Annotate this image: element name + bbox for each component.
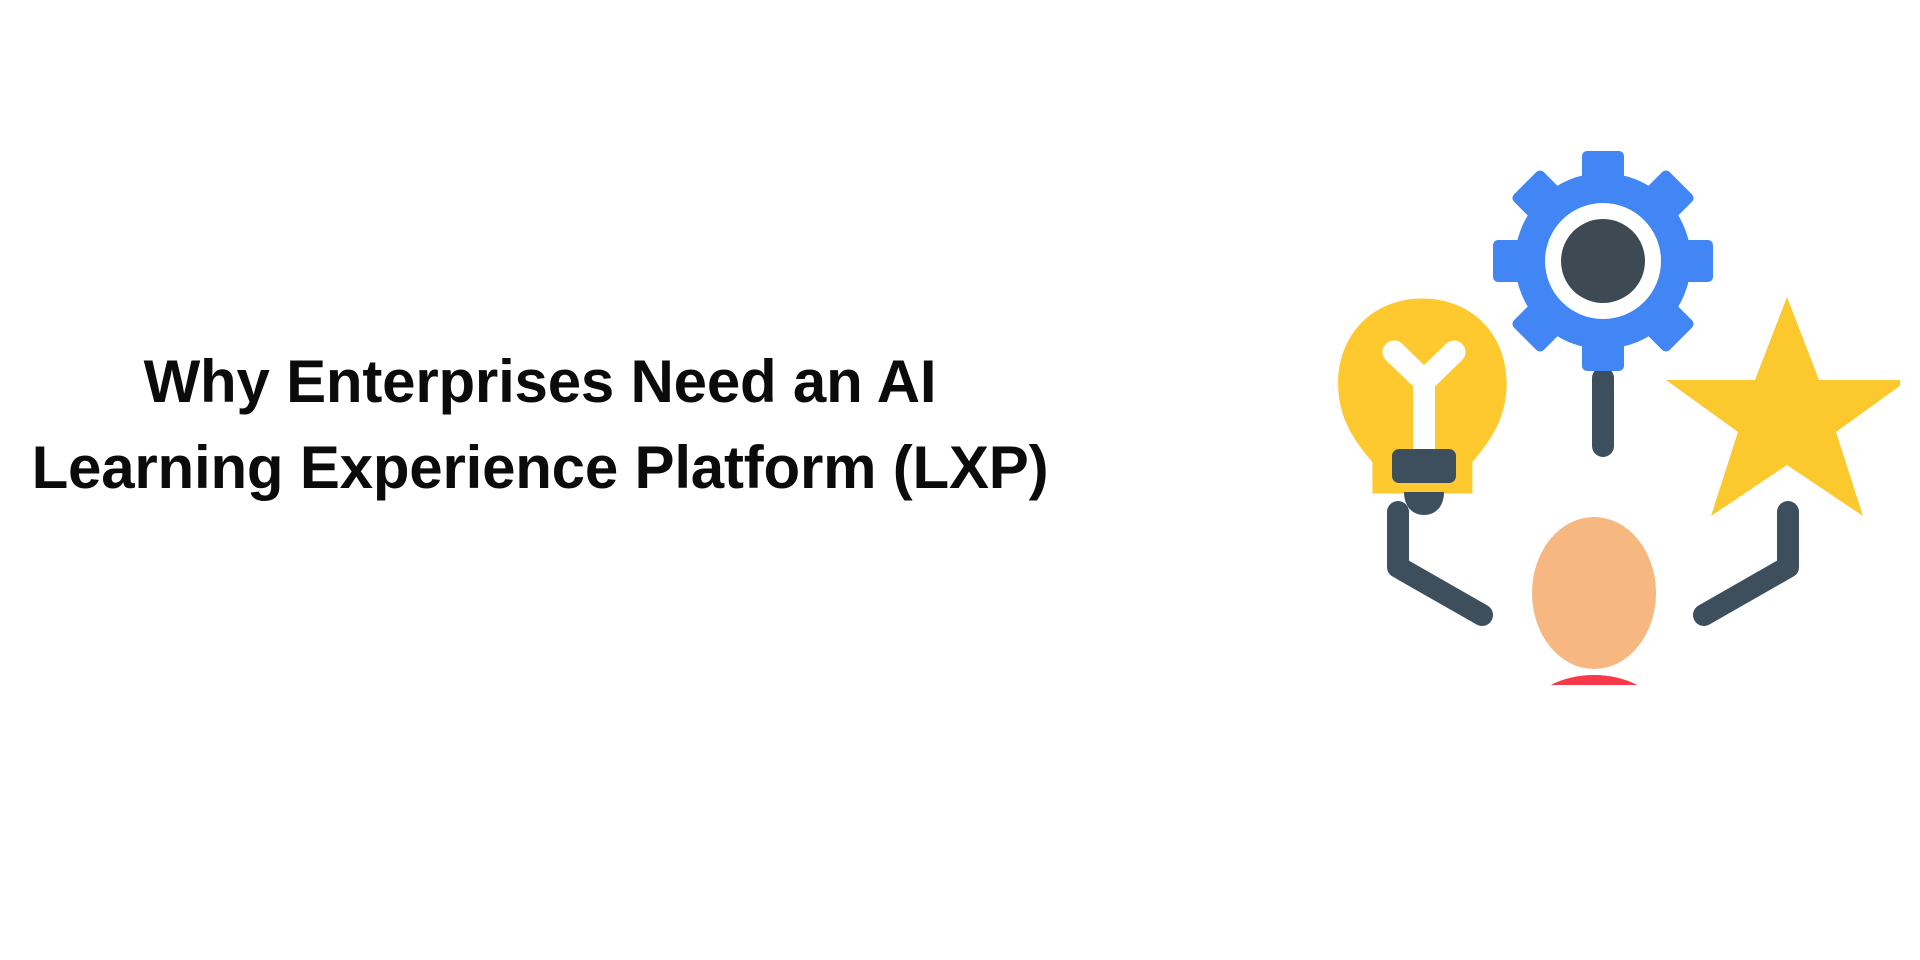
headline-line-2: Learning Experience Platform (LXP) — [32, 425, 1049, 511]
left-elbow-connector-icon — [1398, 512, 1482, 615]
banner-root: Why Enterprises Need an AI Learning Expe… — [0, 0, 1920, 960]
lightbulb-icon — [1338, 298, 1507, 515]
gear-hub — [1561, 219, 1645, 303]
star-icon — [1666, 297, 1900, 516]
hero-illustration — [1330, 115, 1900, 685]
gear-icon — [1493, 151, 1713, 371]
person-body-icon — [1499, 675, 1689, 685]
right-elbow-connector-icon — [1704, 512, 1788, 615]
headline-line-1: Why Enterprises Need an AI — [144, 339, 937, 425]
lightbulb-base — [1392, 449, 1456, 483]
person-head-icon — [1532, 517, 1656, 669]
lightbulb-tip — [1404, 492, 1444, 515]
gear-stem-connector-icon — [1592, 367, 1614, 457]
page-title: Why Enterprises Need an AI Learning Expe… — [20, 330, 1060, 520]
